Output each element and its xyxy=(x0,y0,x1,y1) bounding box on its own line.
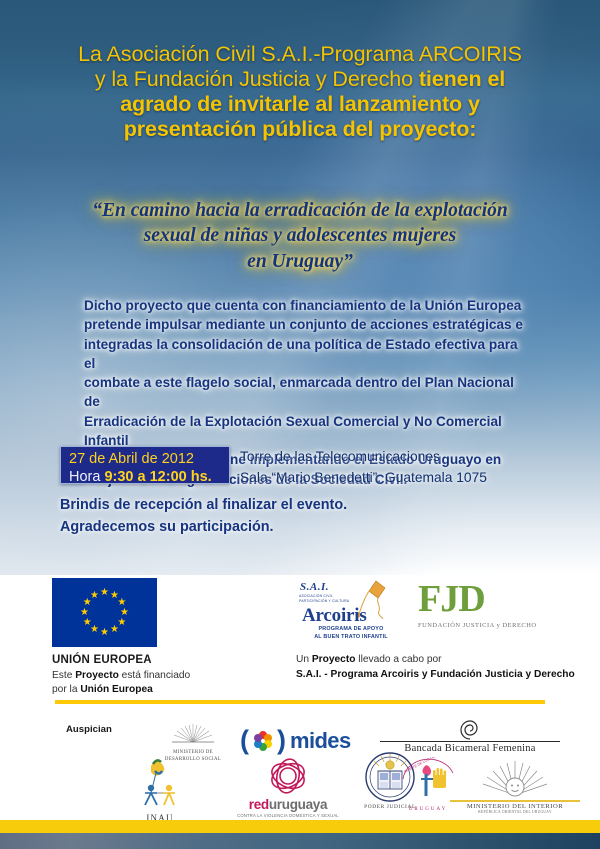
eu-note-e: Unión Europea xyxy=(80,684,152,695)
closing-line-1: Brindis de recepción al finalizar el eve… xyxy=(60,494,540,516)
sponsors-area: MINISTERIO DE DESARROLLO SOCIAL ( ) mide… xyxy=(50,713,590,818)
eu-note-b: Proyecto xyxy=(75,670,119,681)
fjd-logo-icon: FJD FUNDACIÓN JUSTICIA y DERECHO xyxy=(418,580,568,629)
project-title: “En camino hacia la erradicación de la e… xyxy=(30,198,570,274)
red-uruguaya-logo-icon: reduruguaya CONTRA LA VIOLENCIA DOMÉSTIC… xyxy=(218,755,358,818)
partner-caption-a: Un xyxy=(296,654,312,665)
eu-name: UNIÓN EUROPEA xyxy=(52,654,302,666)
partner-caption-b: Proyecto xyxy=(312,654,356,665)
headline-line-2-thin: y la Fundación Justicia y Derecho xyxy=(95,67,419,91)
sai-subtitle-2: PARTICIPACIÓN Y CULTURA xyxy=(299,599,349,603)
eu-funding-note: Este Proyecto está financiado por la Uni… xyxy=(52,669,302,698)
eu-star-icon: ★ xyxy=(90,591,99,600)
sai-acronym: S.A.I. xyxy=(300,581,329,593)
closing-line-2: Agradecemos su participación. xyxy=(60,516,540,538)
partner-caption-c: llevado a cabo por xyxy=(355,654,441,665)
description-line-4: combate a este flagelo social, enmarcada… xyxy=(84,373,524,412)
event-date: 27 de Abril de 2012 xyxy=(69,450,229,468)
bancada-wordmark: Bancada Bicameral Femenina xyxy=(380,741,560,754)
eu-star-icon: ★ xyxy=(100,628,109,637)
headline-line-1: La Asociación Civil S.A.I.-Programa ARCO… xyxy=(20,42,580,67)
european-union-flag-icon: ★★★★★★★★★★★★ xyxy=(52,578,157,647)
event-venue: Torre de las Telecomunicaciones Sala “Ma… xyxy=(240,447,590,489)
mides-flower-icon xyxy=(253,731,273,751)
headline-line-2: y la Fundación Justicia y Derecho tienen… xyxy=(20,67,580,92)
invitation-poster: La Asociación Civil S.A.I.-Programa ARCO… xyxy=(0,0,600,849)
footer-blue-bar xyxy=(0,833,600,849)
eu-star-icon: ★ xyxy=(100,588,109,597)
headline-line-2-bold: tienen el xyxy=(419,67,505,91)
eu-funder-block: ★★★★★★★★★★★★ UNIÓN EUROPEA Este Proyecto… xyxy=(52,578,302,698)
headline-line-3: agrado de invitarle al lanzamiento y xyxy=(20,92,580,117)
eu-note-a: Este xyxy=(52,670,75,681)
headline: La Asociación Civil S.A.I.-Programa ARCO… xyxy=(20,42,580,143)
eu-note-c: está financiado xyxy=(119,670,190,681)
mides-logo-icon: ( ) mides xyxy=(240,727,370,754)
project-title-line-1: “En camino hacia la erradicación de la e… xyxy=(30,198,570,223)
bancada-bicameral-femenina-logo-icon: Bancada Bicameral Femenina xyxy=(380,719,560,754)
sai-arcoiris-word: Arcoiris xyxy=(302,605,367,627)
closing-note: Brindis de recepción al finalizar el eve… xyxy=(60,494,540,539)
inau-figures-icon xyxy=(131,753,189,807)
spiral-shell-icon xyxy=(451,719,489,741)
sai-tagline: PROGRAMA DE APOYO AL BUEN TRATO INFANTIL xyxy=(304,626,398,642)
description-line-2: pretende impulsar mediante un conjunto d… xyxy=(84,315,524,334)
mides-lockup: ( ) mides xyxy=(240,727,370,754)
partner-block: S.A.I. ASOCIACIÓN CIVIL PARTICIPACIÓN Y … xyxy=(296,578,596,683)
eu-star-icon: ★ xyxy=(117,598,126,607)
event-time-label: Hora xyxy=(69,469,104,485)
eu-star-icon: ★ xyxy=(80,608,89,617)
partner-caption-d: S.A.I. - Programa Arcoiris y Fundación J… xyxy=(296,669,575,680)
partner-caption: Un Proyecto llevado a cabo por S.A.I. - … xyxy=(296,652,596,683)
ministerio-interior-subcaption: REPÚBLICA ORIENTAL DEL URUGUAY xyxy=(450,810,580,814)
event-time-value: 9:30 a 12:00 hs. xyxy=(104,469,211,485)
footer-yellow-bar xyxy=(0,820,600,833)
description-line-1: Dicho proyecto que cuenta con financiami… xyxy=(84,296,524,315)
mides-petal-icon xyxy=(254,734,262,742)
project-title-line-2: sexual de niñas y adolescentes mujeres xyxy=(30,223,570,248)
red-uruguaya-tagline: CONTRA LA VIOLENCIA DOMÉSTICA Y SEXUAL xyxy=(218,813,358,818)
redu-red: red xyxy=(249,797,269,812)
sai-arcoiris-logo-icon: S.A.I. ASOCIACIÓN CIVIL PARTICIPACIÓN Y … xyxy=(296,578,404,642)
yellow-divider xyxy=(55,700,545,704)
description-line-3: integradas la consolidación de una polít… xyxy=(84,335,524,374)
red-uruguaya-wordmark: reduruguaya xyxy=(218,797,358,812)
mides-paren-left: ( xyxy=(240,727,249,754)
redu-uruguaya: uruguaya xyxy=(269,797,327,812)
venue-line-1: Torre de las Telecomunicaciones xyxy=(240,447,590,468)
venue-line-2: Sala “Mario Benedetti”. Guatemala 1075 xyxy=(240,468,590,489)
partner-logos: S.A.I. ASOCIACIÓN CIVIL PARTICIPACIÓN Y … xyxy=(296,578,596,644)
fjd-monogram: FJD xyxy=(418,580,568,618)
eu-star-icon: ★ xyxy=(83,618,92,627)
interlocking-rings-icon xyxy=(257,755,319,797)
eu-note-d: por la xyxy=(52,684,80,695)
inau-logo-icon: INAU xyxy=(120,753,200,823)
mides-paren-right: ) xyxy=(277,727,286,754)
eu-star-icon: ★ xyxy=(110,625,119,634)
description-line-5: Erradicación de la Explotación Sexual Co… xyxy=(84,412,524,451)
event-date-box: 27 de Abril de 2012 Hora 9:30 a 12:00 hs… xyxy=(60,446,230,484)
sai-tagline-1: PROGRAMA DE APOYO xyxy=(319,626,384,632)
project-title-line-3: en Uruguay” xyxy=(30,249,570,274)
mides-wordmark: mides xyxy=(290,730,351,752)
radiating-sun-icon xyxy=(170,721,216,743)
sai-tagline-2: AL BUEN TRATO INFANTIL xyxy=(314,634,388,640)
sun-of-may-icon xyxy=(477,757,553,799)
ministerio-interior-logo-icon: MINISTERIO DEL INTERIOR REPÚBLICA ORIENT… xyxy=(450,757,580,814)
ministerio-interior-caption: MINISTERIO DEL INTERIOR xyxy=(450,800,580,810)
sai-subtitle: ASOCIACIÓN CIVIL PARTICIPACIÓN Y CULTURA xyxy=(299,594,349,603)
fjd-full-name: FUNDACIÓN JUSTICIA y DERECHO xyxy=(418,622,568,629)
sai-subtitle-1: ASOCIACIÓN CIVIL xyxy=(299,594,333,598)
headline-line-4: presentación pública del proyecto: xyxy=(20,117,580,142)
eu-star-icon: ★ xyxy=(120,608,129,617)
event-time: Hora 9:30 a 12:00 hs. xyxy=(69,468,229,486)
